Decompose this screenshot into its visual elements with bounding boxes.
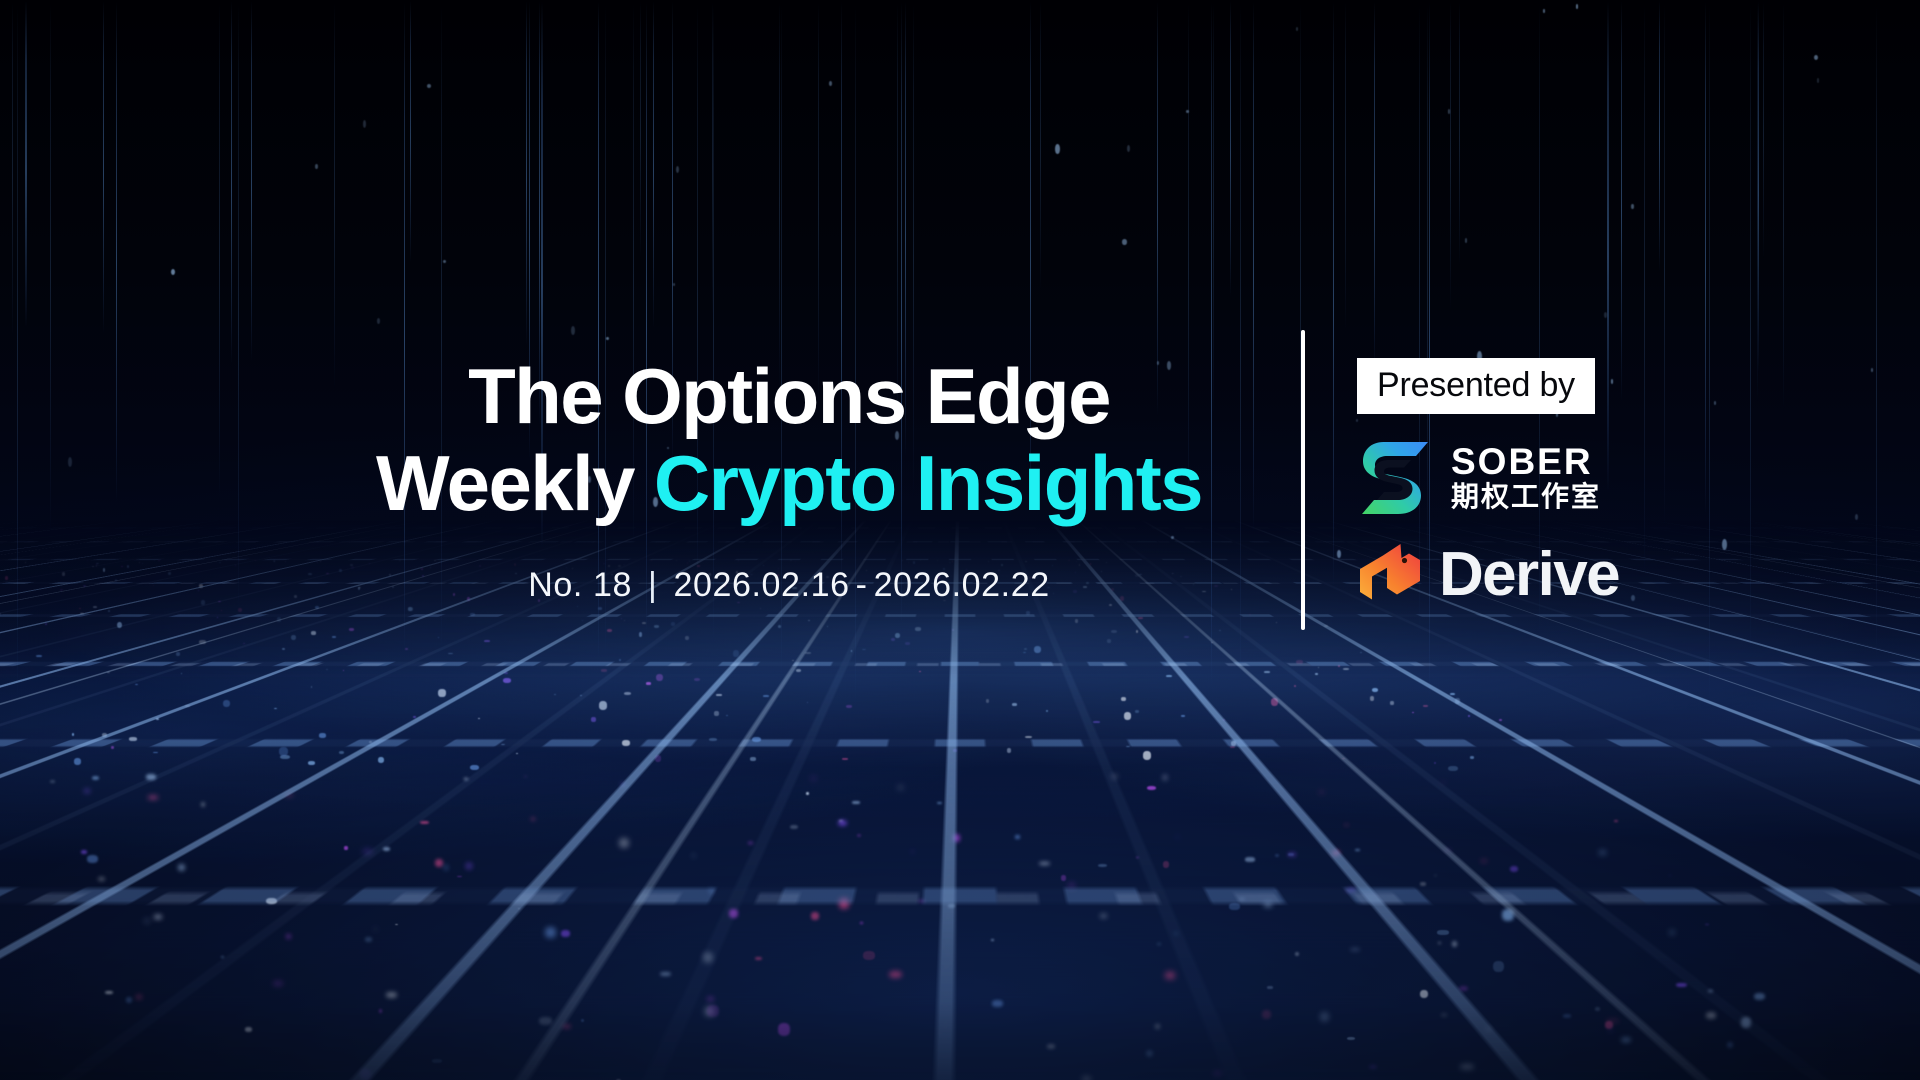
presented-by-chip: Presented by xyxy=(1357,358,1595,414)
date-range-start: 2026.02.16 xyxy=(673,566,849,604)
date-range-dash: - xyxy=(850,566,874,604)
derive-name: Derive xyxy=(1439,544,1619,606)
page-title-line-2: Weekly Crypto Insights xyxy=(301,442,1277,525)
page-title-line-2-accent: Crypto Insights xyxy=(654,439,1202,527)
date-range-end: 2026.02.22 xyxy=(874,566,1050,604)
sober-logo[interactable]: SOBER 期权工作室 xyxy=(1357,440,1601,516)
page-title-line-1: The Options Edge xyxy=(301,355,1277,438)
headline-block: The Options Edge Weekly Crypto Insights … xyxy=(301,355,1301,605)
sober-wordmark: SOBER 期权工作室 xyxy=(1451,443,1601,513)
sober-subtitle-cn: 期权工作室 xyxy=(1451,482,1601,513)
derive-logo[interactable]: Derive xyxy=(1357,544,1619,606)
banner-canvas: The Options Edge Weekly Crypto Insights … xyxy=(0,0,1920,1080)
sponsor-block: Presented by SOBER xyxy=(1357,354,1619,606)
derive-horse-head-icon xyxy=(1357,544,1425,606)
issue-meta-line: No. 18|2026.02.16-2026.02.22 xyxy=(301,566,1277,605)
sober-name: SOBER xyxy=(1451,443,1601,480)
page-title-line-2-plain: Weekly xyxy=(376,439,654,527)
vertical-divider xyxy=(1301,330,1305,630)
sober-s-monogram-icon xyxy=(1357,440,1433,516)
banner-content: The Options Edge Weekly Crypto Insights … xyxy=(0,300,1920,660)
issue-number: No. 18 xyxy=(528,566,632,604)
meta-separator: | xyxy=(632,566,673,605)
